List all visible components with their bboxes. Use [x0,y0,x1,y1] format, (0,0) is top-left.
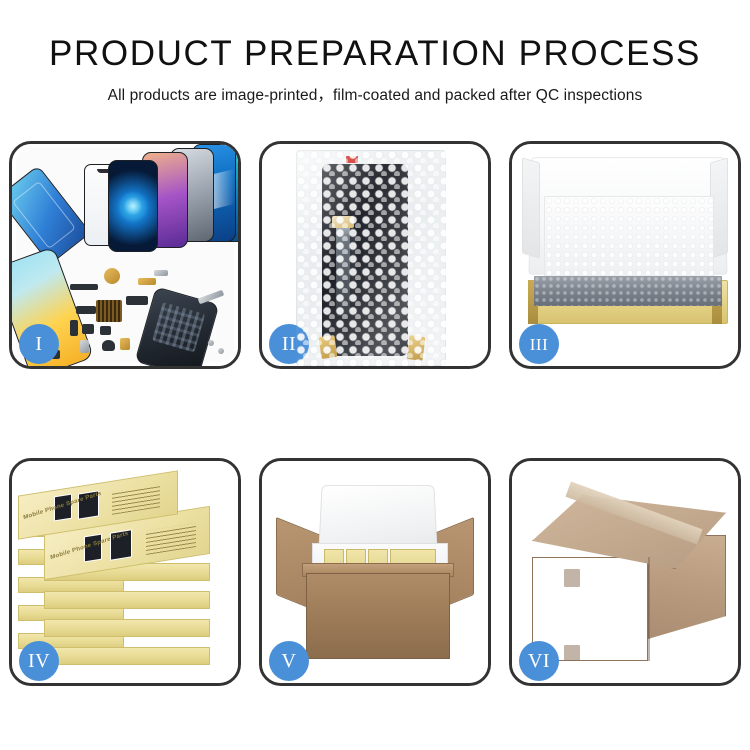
step-badge-4: IV [19,641,59,681]
step-panel-1[interactable]: I [9,141,241,369]
step-badge-5: V [269,641,309,681]
step-badge-3: III [519,324,559,364]
step-2-image [262,144,488,366]
step-panel-5[interactable]: V [259,458,491,686]
product-preparation-infographic: PRODUCT PREPARATION PROCESS All products… [0,0,750,750]
page-title: PRODUCT PREPARATION PROCESS [0,36,750,73]
process-steps-grid: I [9,141,741,686]
step-panel-2[interactable]: II [259,141,491,369]
header: PRODUCT PREPARATION PROCESS All products… [0,0,750,105]
step-panel-3[interactable]: III [509,141,741,369]
step-panel-4[interactable]: Mobile Phone Spare Parts Mobile Phone Sp… [9,458,241,686]
bubble-wrap-illustration [262,144,488,366]
page-subtitle: All products are image-printed，film-coat… [0,83,750,105]
step-badge-1: I [19,324,59,364]
step-badge-6: VI [519,641,559,681]
step-panel-6[interactable]: VI [509,458,741,686]
